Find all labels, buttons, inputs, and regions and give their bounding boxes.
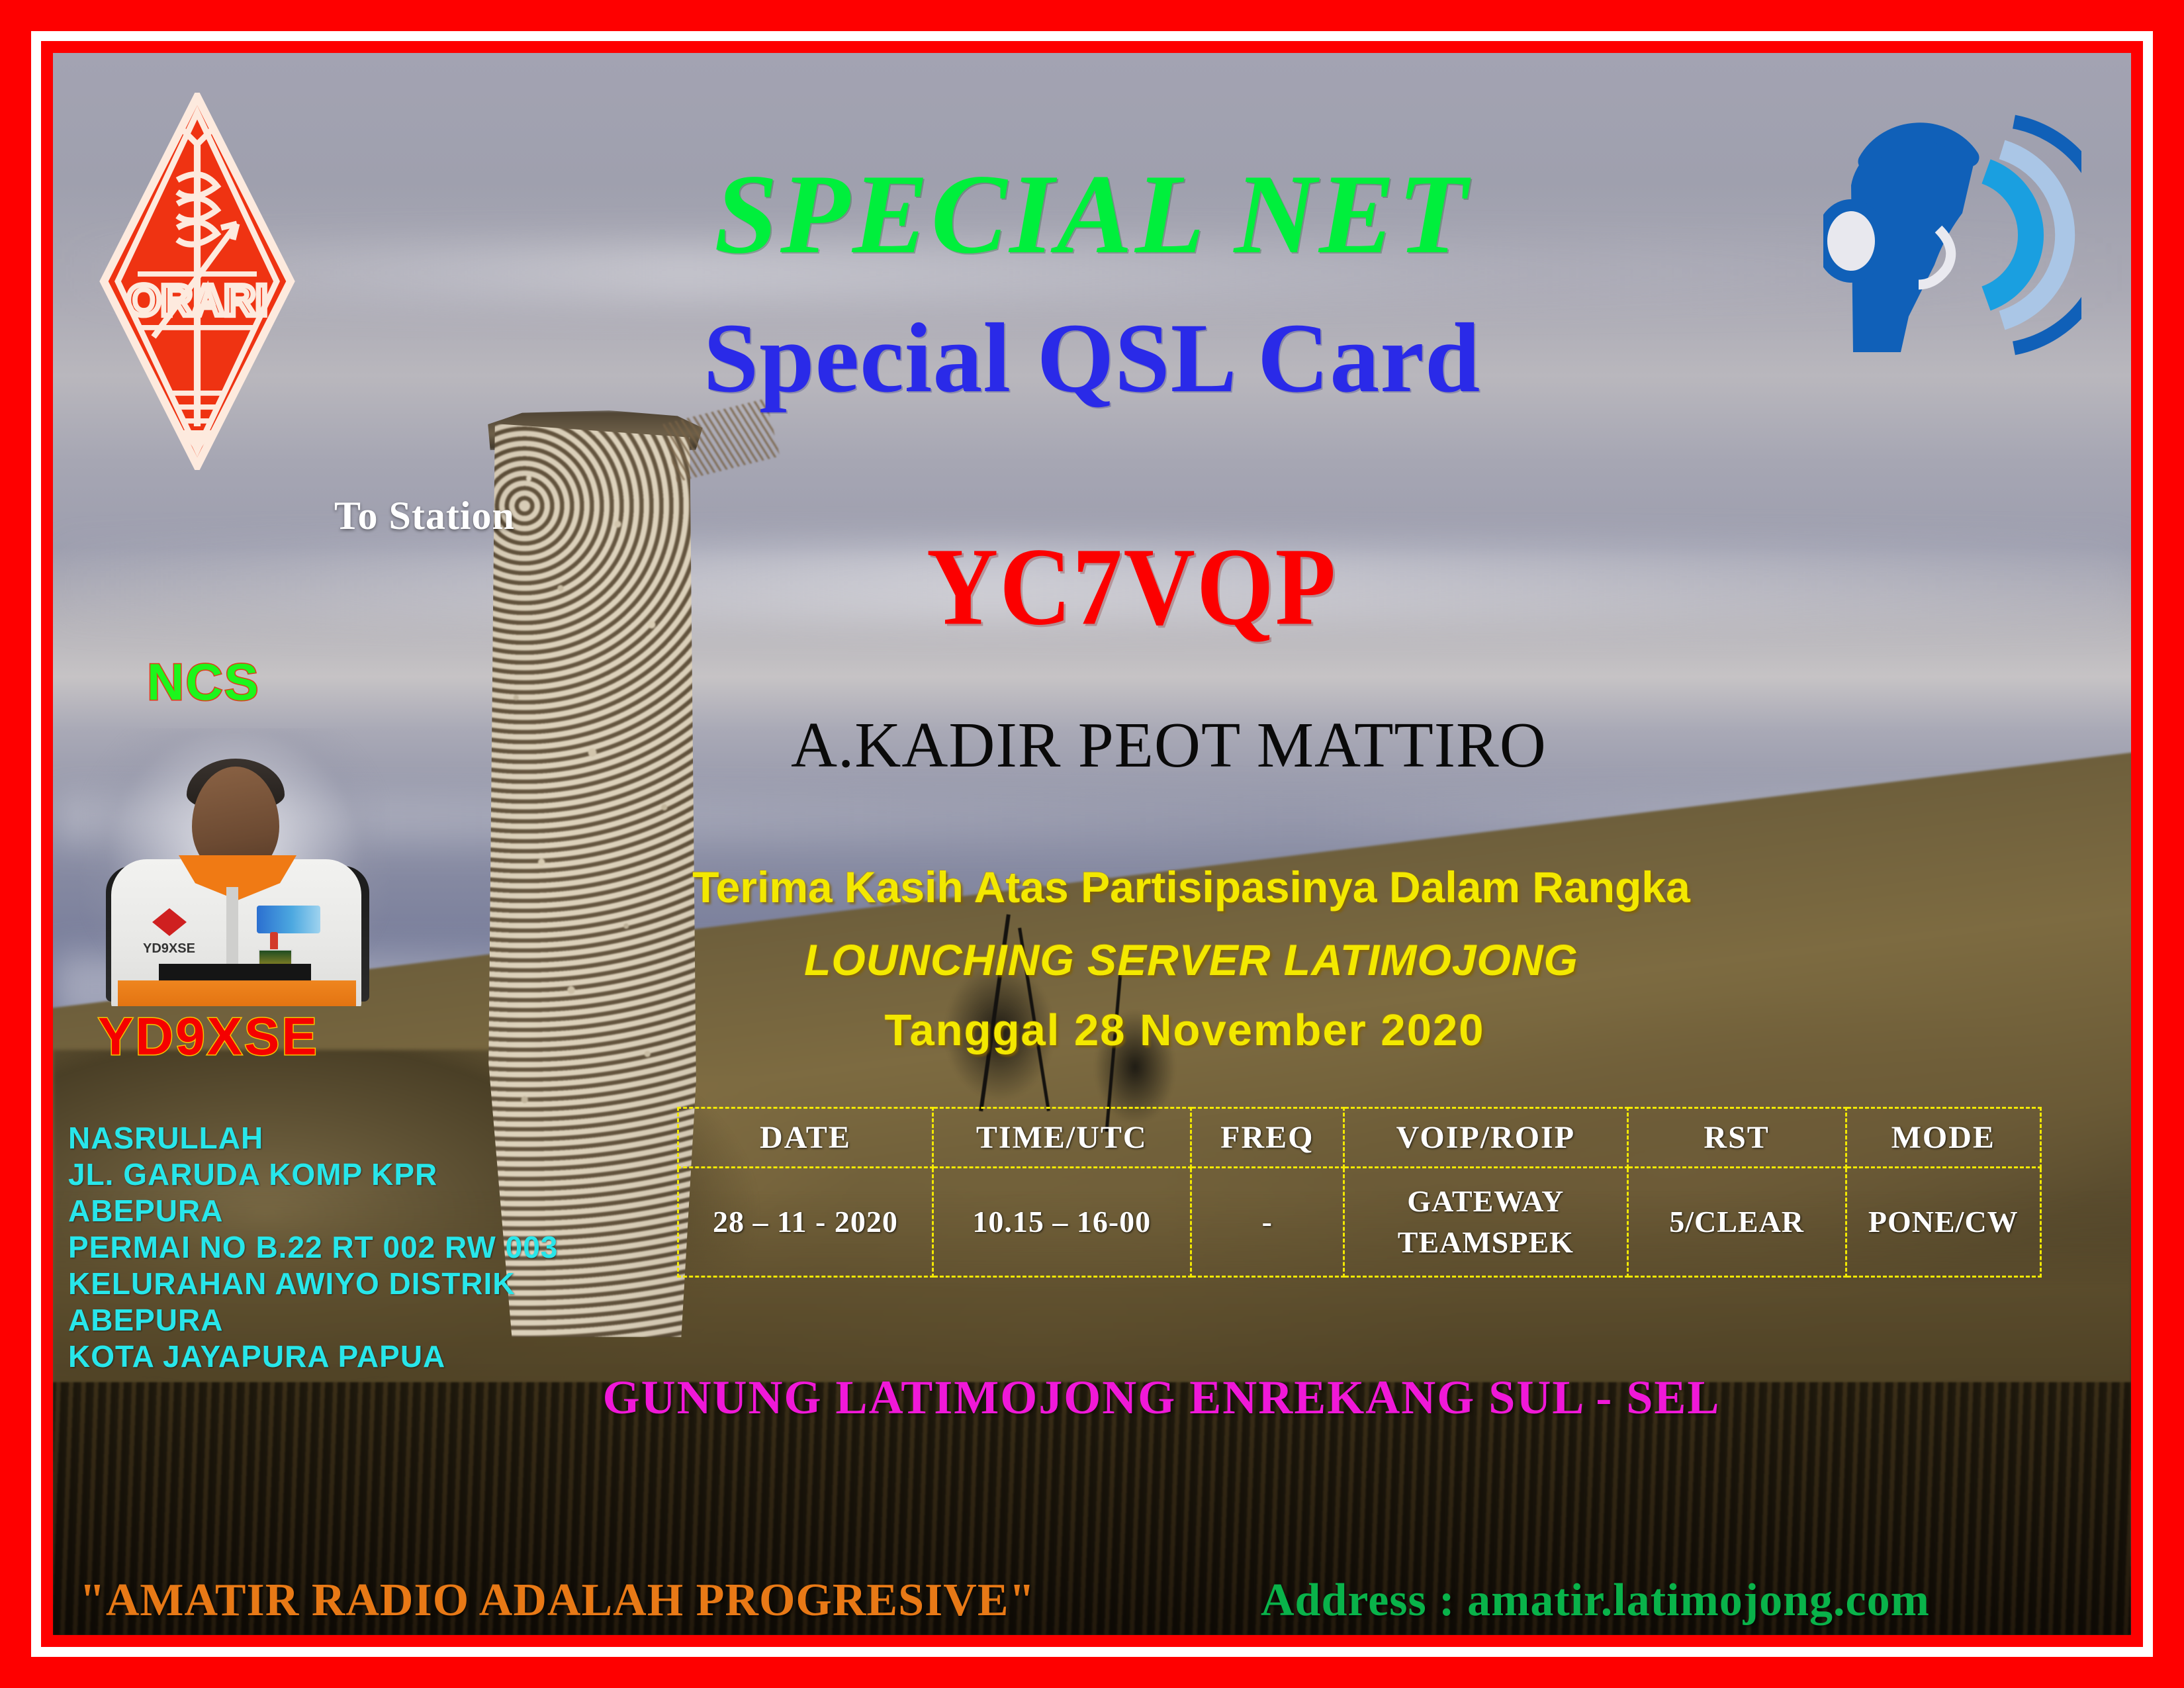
column-header-voip: VOIP/ROIP [1344, 1108, 1628, 1168]
cell-rst: 5/CLEAR [1627, 1168, 1846, 1277]
qso-log-table: DATE TIME/UTC FREQ VOIP/ROIP RST MODE 28… [677, 1107, 2042, 1278]
column-header-date: DATE [678, 1108, 933, 1168]
column-header-mode: MODE [1846, 1108, 2040, 1168]
address-line: PERMAI NO B.22 RT 002 RW 003 [68, 1229, 558, 1266]
cell-mode: PONE/CW [1846, 1168, 2040, 1277]
table-header-row: DATE TIME/UTC FREQ VOIP/ROIP RST MODE [678, 1108, 2041, 1168]
address-line: ABEPURA [68, 1302, 558, 1338]
address-line: ABEPURA [68, 1193, 558, 1229]
column-header-freq: FREQ [1191, 1108, 1343, 1168]
title-special-qsl-card: Special QSL Card [0, 301, 2184, 415]
footer-website: Address : amatir.latimojong.com [1261, 1574, 1930, 1627]
uniform-belt [159, 964, 311, 981]
recipient-callsign: YC7VQP [927, 523, 1337, 651]
table-row: 28 – 11 - 2020 10.15 – 16-00 - GATEWAY T… [678, 1168, 2041, 1277]
cell-voip: GATEWAY TEAMSPEK [1344, 1168, 1628, 1277]
location-caption: GUNUNG LATIMOJONG ENREKANG SUL - SEL [0, 1370, 2184, 1425]
cell-voip-line2: TEAMSPEK [1398, 1225, 1574, 1259]
thanks-line-3-date: Tanggal 28 November 2020 [0, 1005, 2184, 1056]
title-special-net: SPECIAL NET [0, 150, 2184, 280]
cell-voip-line1: GATEWAY [1407, 1184, 1564, 1218]
cell-date: 28 – 11 - 2020 [678, 1168, 933, 1277]
address-line: JL. GARUDA KOMP KPR [68, 1156, 558, 1193]
ncs-label: NCS [147, 652, 260, 712]
to-station-label: To Station [334, 493, 515, 539]
ncs-operator-photo: YD9XSE [79, 728, 390, 1006]
operator-name: A.KADIR PEOT MATTIRO [791, 708, 1547, 782]
address-line: KOTA JAYAPURA PAPUA [68, 1338, 558, 1375]
cell-time: 10.15 – 16-00 [933, 1168, 1191, 1277]
ncs-callsign: YD9XSE [98, 1006, 319, 1067]
address-line: NASRULLAH [68, 1120, 558, 1156]
column-header-time: TIME/UTC [933, 1108, 1191, 1168]
uniform-callsign-patch: YD9XSE [143, 941, 195, 957]
cell-freq: - [1191, 1168, 1343, 1277]
footer-slogan: "AMATIR RADIO ADALAH PROGRESIVE" [79, 1574, 1035, 1627]
address-line: KELURAHAN AWIYO DISTRIK [68, 1266, 558, 1302]
column-header-rst: RST [1627, 1108, 1846, 1168]
ncs-address-block: NASRULLAH JL. GARUDA KOMP KPR ABEPURA PE… [68, 1120, 558, 1375]
qsl-card: ORARI SPECIAL NET Special QSL Card To St… [0, 0, 2184, 1688]
uniform-patch-right [257, 906, 320, 933]
